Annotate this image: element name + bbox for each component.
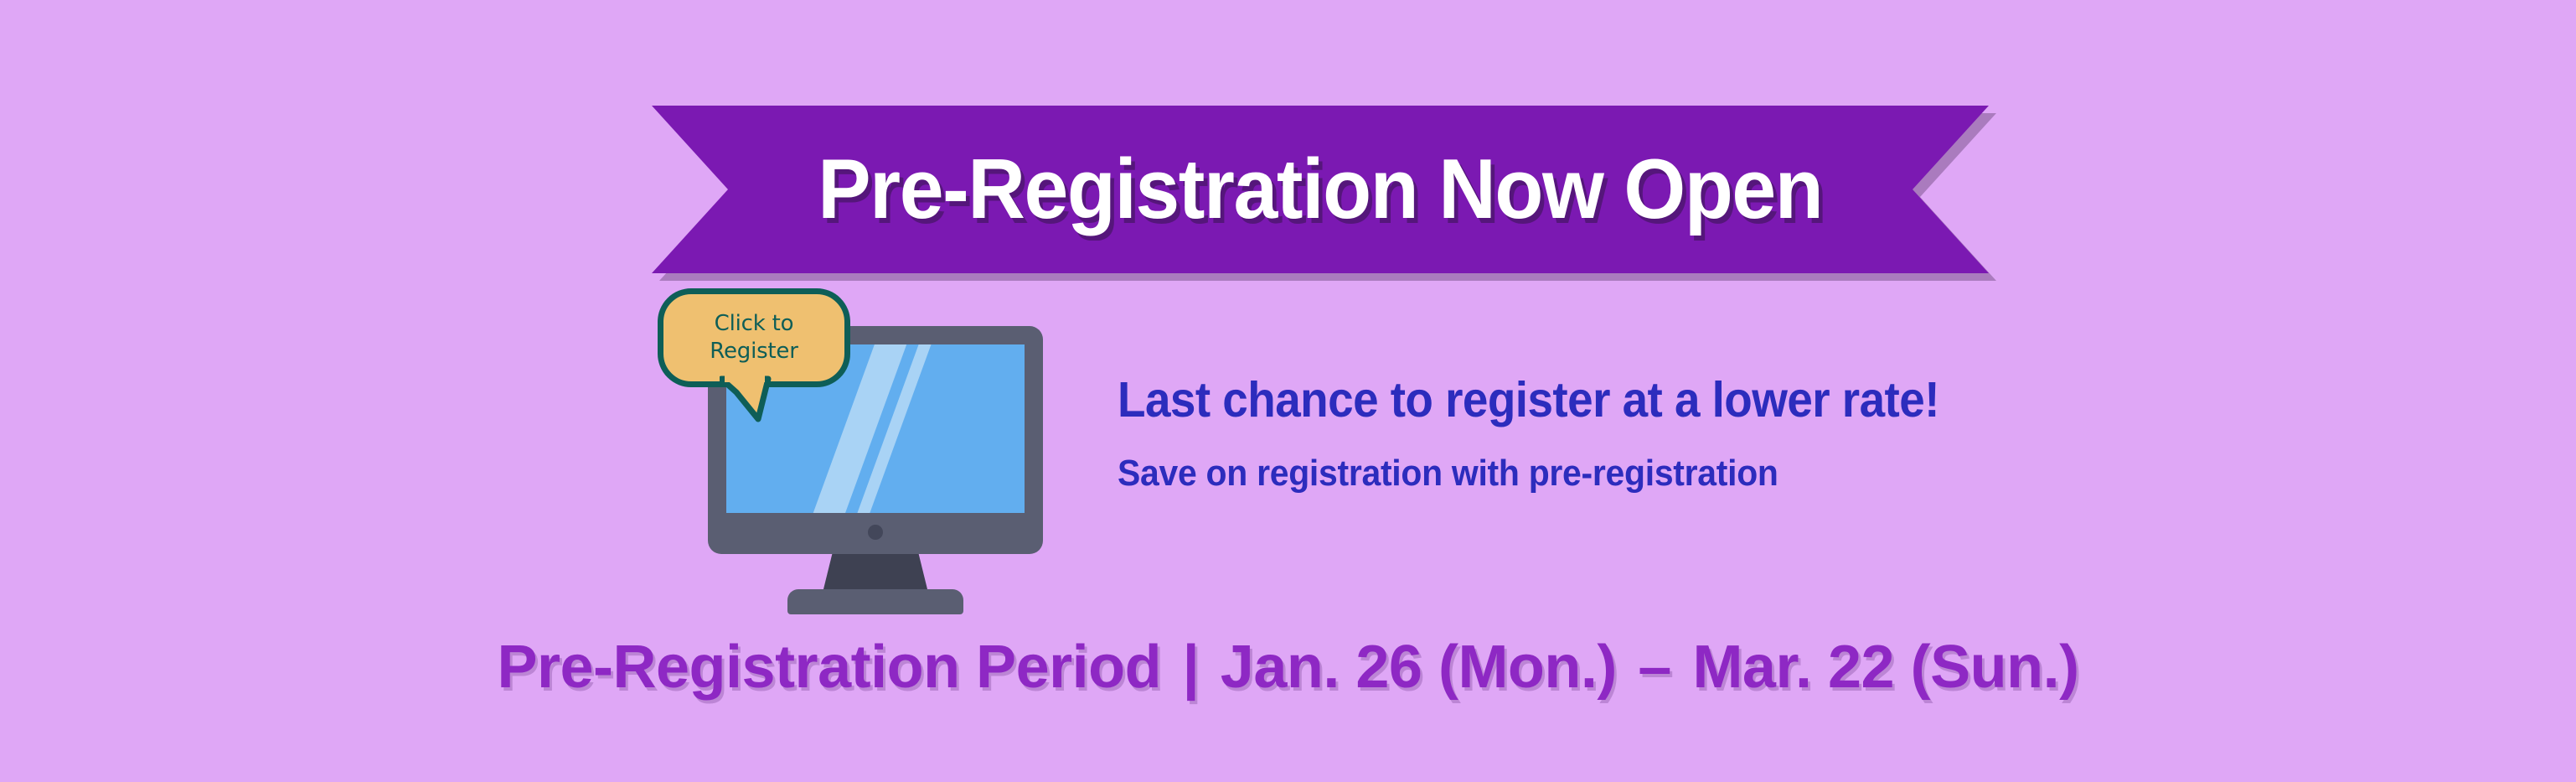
monitor-stand-neck <box>823 554 928 593</box>
pitch-headline: Last chance to register at a lower rate! <box>1118 375 2130 425</box>
bubble-line-1: Click to <box>715 310 794 338</box>
period-label: Pre-Registration Period <box>497 634 1161 701</box>
period-start-date: Jan. 26 (Mon.) <box>1221 634 1617 701</box>
bubble-line-2: Register <box>710 338 798 365</box>
ribbon-headline-banner: Pre-Registration Now Open <box>652 106 1989 273</box>
speech-bubble-text: Click to Register <box>658 288 850 387</box>
period-separator: | <box>1178 634 1205 701</box>
click-to-register-callout[interactable]: Click to Register <box>658 288 850 414</box>
monitor-stand-base <box>787 589 963 614</box>
pre-registration-promo-banner: Pre-Registration Now Open Click to Regis… <box>0 0 2576 782</box>
monitor-power-indicator-icon <box>868 525 883 540</box>
ribbon-title-text: Pre-Registration Now Open <box>818 148 1822 232</box>
ribbon-shape: Pre-Registration Now Open <box>652 106 1989 273</box>
period-end-date: Mar. 22 (Sun.) <box>1692 634 2078 701</box>
pre-registration-period-line: Pre-Registration Period | Jan. 26 (Mon.)… <box>0 637 2576 697</box>
pitch-copy-block: Last chance to register at a lower rate!… <box>1118 375 2207 492</box>
period-range-dash: – <box>1633 634 1676 701</box>
pitch-subline: Save on registration with pre-registrati… <box>1118 455 2130 492</box>
